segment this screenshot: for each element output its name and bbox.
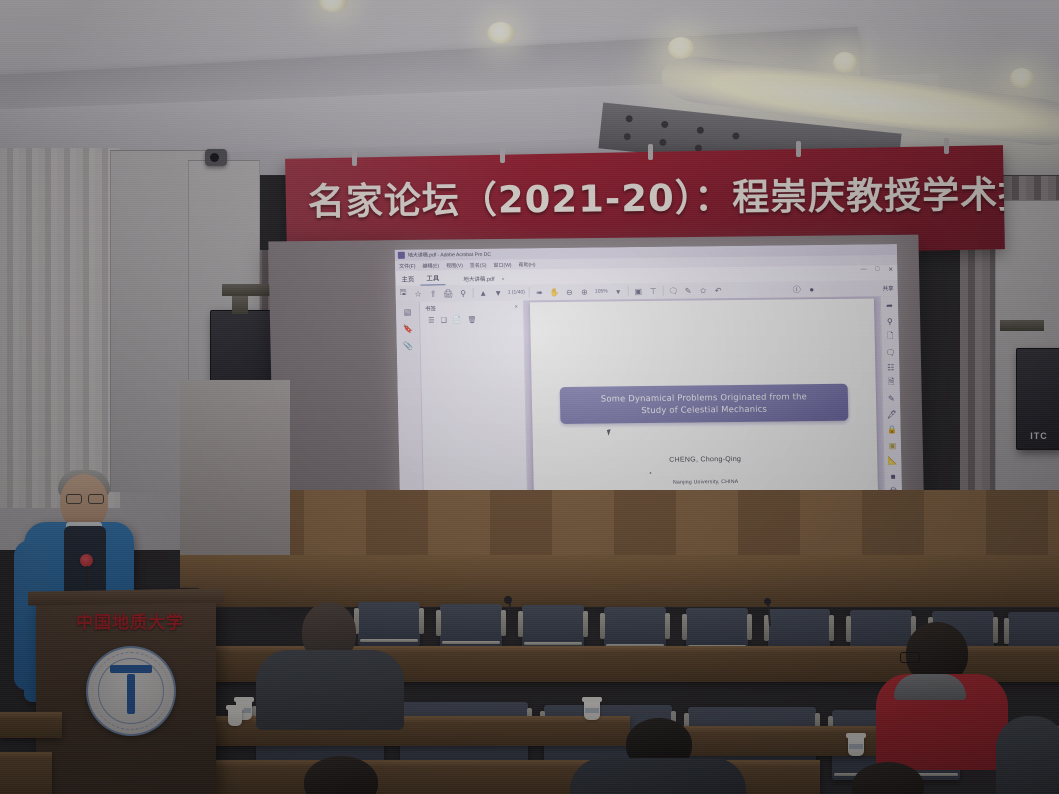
tab-document[interactable]: 地大讲稿.pdf — [463, 275, 494, 285]
audience-member — [256, 602, 404, 722]
podium-institution-name: 中国地质大学 — [56, 608, 204, 633]
menu-item-window[interactable]: 窗口(W) — [493, 261, 511, 268]
menu-item-view[interactable]: 视图(V) — [446, 262, 463, 269]
audience-member — [996, 706, 1059, 794]
page-thumbnail-icon[interactable]: ▣ — [631, 284, 646, 299]
chair — [604, 607, 666, 651]
stamp-icon[interactable]: ▣ — [887, 440, 898, 451]
search-tool-icon[interactable]: ⚲ — [884, 316, 895, 327]
share-button[interactable]: 共享 — [883, 284, 894, 292]
podium-top-surface — [28, 588, 224, 605]
ceiling-downlight — [487, 22, 515, 44]
ceiling-downlight — [318, 0, 348, 12]
wall-acoustic-panel — [180, 380, 290, 565]
banner-clip — [796, 141, 801, 157]
menu-item-file[interactable]: 文件(F) — [399, 262, 416, 269]
star-icon[interactable]: ☆ — [411, 286, 426, 301]
ceiling-downlight — [1010, 68, 1034, 88]
acrobat-window-title: 地大讲稿.pdf - Adobe Acrobat Pro DC — [408, 251, 491, 259]
text-tool-icon[interactable]: ⊤ — [646, 283, 661, 298]
highlight-pen-icon[interactable]: ✎ — [681, 283, 696, 298]
menu-item-sign[interactable]: 签名(S) — [470, 261, 487, 268]
slide-title-line-1: Some Dynamical Problems Originated from … — [601, 391, 807, 403]
surveillance-camera — [205, 149, 227, 166]
close-panel-icon[interactable]: × — [514, 304, 518, 310]
audience-torso — [996, 716, 1059, 794]
close-icon[interactable]: ✕ — [888, 266, 893, 273]
page-indicator[interactable]: 1 (1/40) — [506, 289, 527, 295]
tab-home[interactable]: 主页 — [395, 274, 420, 286]
speaker-bracket — [222, 284, 270, 296]
share-upload-icon[interactable]: ⇧ — [426, 286, 441, 301]
close-document-tab-icon[interactable]: × — [502, 277, 505, 285]
help-icon[interactable]: ⓘ — [789, 282, 804, 297]
stage-front-wall — [180, 555, 1059, 607]
window-controls: — □ ✕ — [861, 266, 894, 273]
slide-affiliation: Nanjing University, CHINA — [534, 478, 878, 488]
banner-clip — [944, 138, 949, 154]
wall-speaker-right: ITC — [1016, 348, 1059, 450]
select-cursor-icon[interactable]: ➠ — [532, 285, 547, 300]
zoom-level[interactable]: 105% — [592, 288, 611, 294]
organize-pages-icon[interactable]: 🗎 — [886, 378, 897, 389]
slide-title-line-2: Study of Celestial Mechanics — [641, 403, 767, 414]
bookmarks-panel-tools: ☰ ❏ 📄 🗑 — [420, 311, 523, 324]
new-bookmark-icon[interactable]: ❏ — [440, 316, 446, 324]
speaker-bracket — [1000, 320, 1044, 331]
banner-clip — [648, 144, 653, 160]
paper-cup — [228, 708, 242, 726]
edit-pdf-icon[interactable]: ✎ — [886, 393, 897, 404]
microphone-icon — [504, 596, 512, 604]
microphone-icon — [764, 598, 771, 605]
banner-clip — [352, 150, 357, 166]
bookmarks-panel-title: 书签 — [425, 304, 436, 312]
paper-cup — [584, 700, 600, 720]
banner-clip — [500, 147, 505, 163]
zoom-out-icon[interactable]: ⊖ — [562, 284, 577, 299]
comment-icon[interactable]: 🗨 — [666, 283, 681, 298]
undo-icon[interactable]: ↶ — [711, 283, 726, 298]
ceiling-downlight — [833, 52, 857, 73]
chair — [522, 605, 584, 649]
audience-member — [840, 762, 950, 794]
options-menu-icon[interactable]: ☰ — [428, 316, 434, 324]
side-table — [0, 712, 62, 738]
redact-icon[interactable]: ■ — [887, 471, 898, 482]
audience-hood — [894, 674, 966, 700]
menu-item-edit[interactable]: 编辑(E) — [422, 262, 439, 269]
slide-title-box: Some Dynamical Problems Originated from … — [559, 384, 849, 424]
audience-head — [852, 762, 924, 794]
combine-files-icon[interactable]: ☷ — [885, 362, 896, 373]
attachments-icon[interactable]: 📎 — [403, 341, 413, 351]
audience-head — [304, 756, 378, 794]
audience-member — [286, 756, 406, 794]
audience-torso — [570, 758, 746, 794]
side-table — [0, 752, 52, 794]
fill-sign-icon[interactable]: 🖋 — [886, 409, 897, 420]
text-caret: • — [649, 471, 651, 477]
menu-item-help[interactable]: 帮助(H) — [518, 261, 535, 268]
measure-icon[interactable]: 📐 — [887, 455, 898, 466]
podium: 中国地质大学 — [36, 600, 216, 794]
account-icon[interactable]: ● — [804, 282, 819, 297]
audience-member — [876, 622, 1008, 762]
lecture-hall-photo: ITC ITC 名家论坛（2021-20）：程崇庆教授学术报告会 地大讲稿.pd… — [0, 0, 1059, 794]
glasses-icon — [66, 494, 104, 502]
maximize-icon[interactable]: □ — [876, 266, 880, 273]
audience-member — [570, 718, 746, 794]
next-page-icon[interactable]: ▼ — [491, 285, 506, 300]
speaker-brand-label: ITC — [1017, 431, 1059, 441]
save-icon[interactable]: 🖫 — [396, 286, 411, 301]
chevron-down-icon[interactable]: ▾ — [611, 284, 626, 299]
zoom-in-icon[interactable]: ⊕ — [577, 284, 592, 299]
search-icon[interactable]: ⚲ — [456, 286, 471, 301]
bookmarks-icon[interactable]: 🔖 — [403, 324, 413, 334]
event-banner-text: 名家论坛（2021-20）：程崇庆教授学术报告会 — [308, 164, 995, 225]
create-pdf-icon[interactable]: 🗋 — [885, 331, 896, 342]
tab-tools[interactable]: 工具 — [420, 272, 445, 285]
ceiling-downlight — [668, 37, 694, 59]
stage-wainscot — [180, 490, 1059, 562]
minimize-icon[interactable]: — — [861, 267, 867, 274]
protect-icon[interactable]: 🔒 — [887, 424, 898, 435]
hand-tool-icon[interactable]: ✋ — [547, 284, 562, 299]
previous-page-icon[interactable]: ▲ — [476, 285, 491, 300]
expand-icon[interactable]: 📄 — [453, 316, 462, 324]
acrobat-app-icon — [398, 252, 405, 259]
chair — [440, 604, 502, 648]
comment-tool-icon[interactable]: 🗨 — [885, 347, 896, 358]
signature-icon[interactable]: ✩ — [696, 283, 711, 298]
page-thumbnails-icon[interactable]: ▤ — [402, 307, 412, 317]
paper-cup — [848, 736, 864, 756]
left-curtain — [0, 148, 120, 508]
print-icon[interactable]: 🖨 — [441, 286, 456, 301]
delete-bookmark-icon[interactable]: 🗑 — [467, 316, 476, 324]
slide-author: CHENG, Chong-Qing — [533, 455, 877, 466]
audience-torso — [256, 650, 404, 730]
university-logo — [86, 646, 176, 736]
glasses-icon — [900, 652, 920, 663]
speaker-pole — [232, 296, 248, 314]
export-pdf-icon[interactable]: ➦ — [884, 300, 895, 311]
